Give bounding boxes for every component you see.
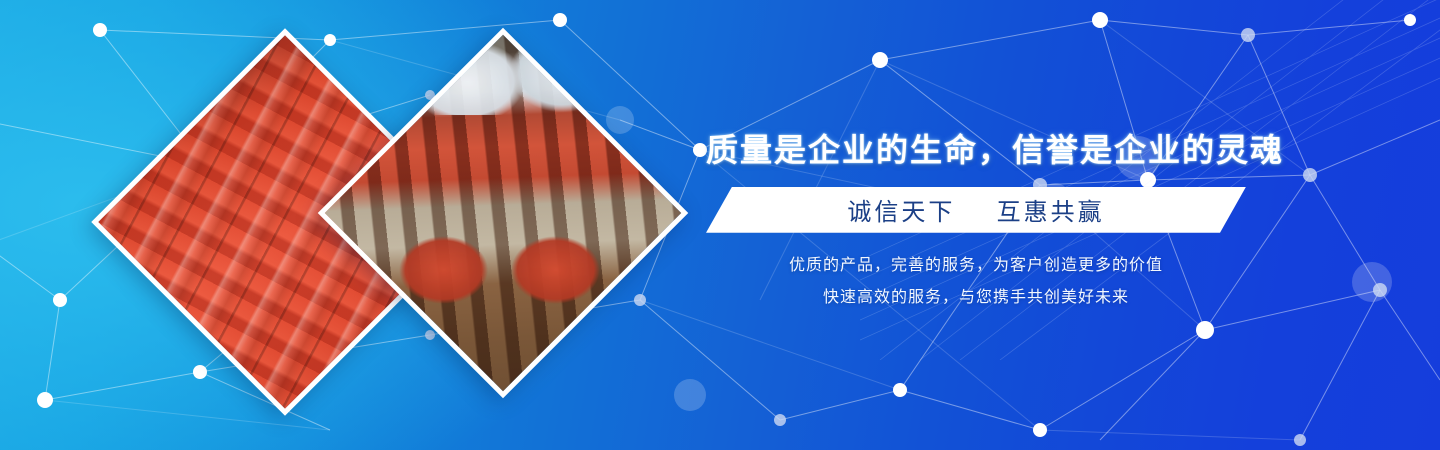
banner-copy-block: 质量是企业的生命，信誉是企业的灵魂 诚信天下 互惠共赢 优质的产品，完善的服务，…: [706, 132, 1246, 309]
product-image-flanged-shafts-pallets: [318, 28, 689, 399]
banner-subtitle-line-2: 快速高效的服务，与您携手共创美好未来: [706, 287, 1246, 309]
slogan-ribbon: 诚信天下 互惠共赢: [706, 187, 1246, 233]
banner-subtitle-line-1: 优质的产品，完善的服务，为客户创造更多的价值: [706, 255, 1246, 277]
promo-banner: 质量是企业的生命，信誉是企业的灵魂 诚信天下 互惠共赢 优质的产品，完善的服务，…: [0, 0, 1440, 450]
slogan-ribbon-text: 诚信天下 互惠共赢: [847, 192, 1104, 227]
diamond-photo-right: [318, 28, 689, 399]
banner-headline: 质量是企业的生命，信誉是企业的灵魂: [706, 132, 1246, 169]
banner-subtitle-group: 优质的产品，完善的服务，为客户创造更多的价值 快速高效的服务，与您携手共创美好未…: [706, 255, 1246, 309]
slogan-left: 诚信天下: [847, 199, 955, 226]
slogan-right: 互惠共赢: [997, 199, 1105, 226]
